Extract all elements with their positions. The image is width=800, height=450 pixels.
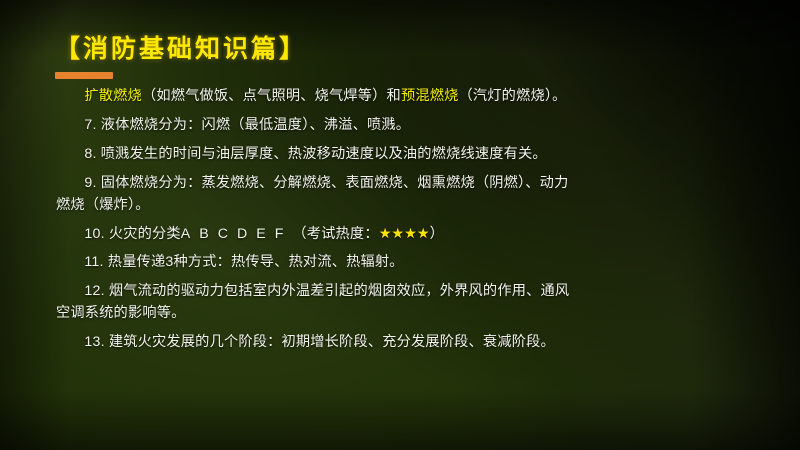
exam-heat-stars-icon: ★★★★ [379,226,430,242]
paragraph-1-middle: （如燃气做饭、点气照明、烧气焊等）和 [142,88,401,104]
exam-heat-close: ） [430,226,444,242]
fire-class-option-f: F [275,226,293,242]
fire-class-option-e: E [256,226,274,242]
list-item-13: 13. 建筑火灾发展的几个阶段：初期增长阶段、充分发展阶段、衰减阶段。 [56,331,576,353]
body-text-block: 扩散燃烧（如燃气做饭、点气照明、烧气焊等）和预混燃烧（汽灯的燃烧）。 7. 液体… [56,85,576,360]
fire-class-option-b: B [199,226,217,242]
list-item-10-lead: 10. 火灾的分类 [84,226,180,242]
highlight-diffusion-combustion: 扩散燃烧 [84,88,142,104]
list-item-11: 11. 热量传递3种方式：热传导、热对流、热辐射。 [56,251,576,273]
slide-content: 【消防基础知识篇】 扩散燃烧（如燃气做饭、点气照明、烧气焊等）和预混燃烧（汽灯的… [0,0,800,450]
slide-canvas: 【消防基础知识篇】 扩散燃烧（如燃气做饭、点气照明、烧气焊等）和预混燃烧（汽灯的… [0,0,800,450]
exam-heat-label: （考试热度： [292,226,378,242]
fire-class-option-a: A [181,226,199,242]
fire-class-option-c: C [218,226,237,242]
fire-class-options: ABCDEF [181,226,293,242]
list-item-12: 12. 烟气流动的驱动力包括室内外温差引起的烟囱效应，外界风的作用、通风空调系统… [56,280,576,325]
list-item-9: 9. 固体燃烧分为：蒸发燃烧、分解燃烧、表面燃烧、烟熏燃烧（阴燃）、动力燃烧（爆… [56,172,576,217]
list-item-7: 7. 液体燃烧分为：闪燃（最低温度）、沸溢、喷溅。 [56,114,576,136]
fire-class-option-d: D [237,226,256,242]
page-title: 【消防基础知识篇】 [55,36,307,64]
title-block: 【消防基础知识篇】 [55,36,307,79]
highlight-premixed-combustion: 预混燃烧 [401,88,459,104]
list-item-10: 10. 火灾的分类ABCDEF（考试热度：★★★★） [56,223,576,245]
paragraph-1-tail: （汽灯的燃烧）。 [459,88,567,104]
paragraph-diffusion-combustion: 扩散燃烧（如燃气做饭、点气照明、烧气焊等）和预混燃烧（汽灯的燃烧）。 [56,85,576,107]
list-item-8: 8. 喷溅发生的时间与油层厚度、热波移动速度以及油的燃烧线速度有关。 [56,143,576,165]
title-underline-bar [55,72,113,79]
